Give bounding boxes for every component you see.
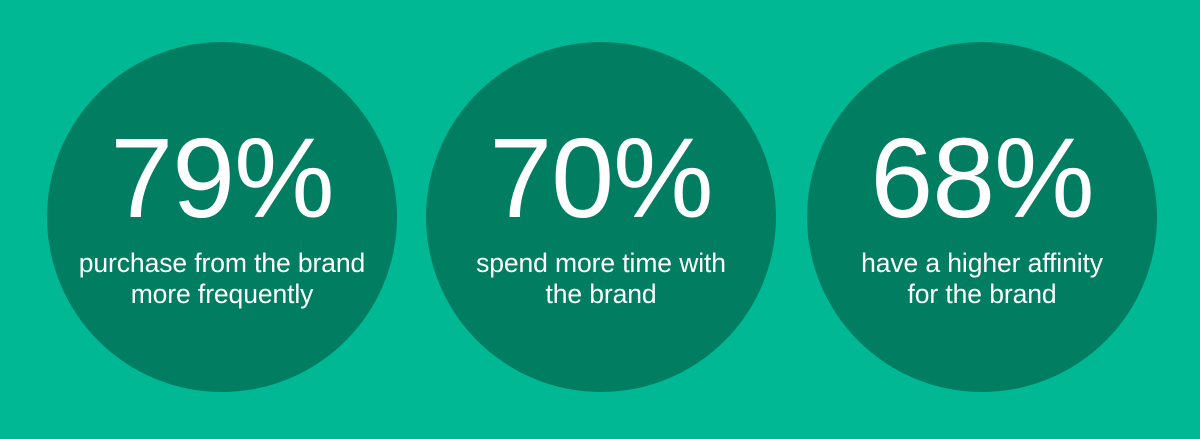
stat-caption-1-line-2: more frequently xyxy=(57,279,387,310)
stat-caption-1-line-1: purchase from the brand xyxy=(57,248,387,279)
stat-caption-2-line-1: spend more time with xyxy=(436,248,766,279)
stat-value-3: 68% xyxy=(870,122,1093,235)
stat-caption-2-line-2: the brand xyxy=(436,279,766,310)
stat-caption-3: have a higher affinity for the brand xyxy=(817,248,1147,310)
stat-value-1: 79% xyxy=(110,122,333,235)
infographic-canvas: 79% purchase from the brand more frequen… xyxy=(0,0,1200,439)
stat-caption-2: spend more time with the brand xyxy=(436,248,766,310)
stat-caption-3-line-2: for the brand xyxy=(817,279,1147,310)
stat-circle-2: 70% spend more time with the brand xyxy=(426,42,776,392)
stat-caption-3-line-1: have a higher affinity xyxy=(817,248,1147,279)
stat-circle-1: 79% purchase from the brand more frequen… xyxy=(47,42,397,392)
stat-circle-3: 68% have a higher affinity for the brand xyxy=(807,42,1157,392)
stat-caption-1: purchase from the brand more frequently xyxy=(57,248,387,310)
stat-value-2: 70% xyxy=(489,122,712,235)
